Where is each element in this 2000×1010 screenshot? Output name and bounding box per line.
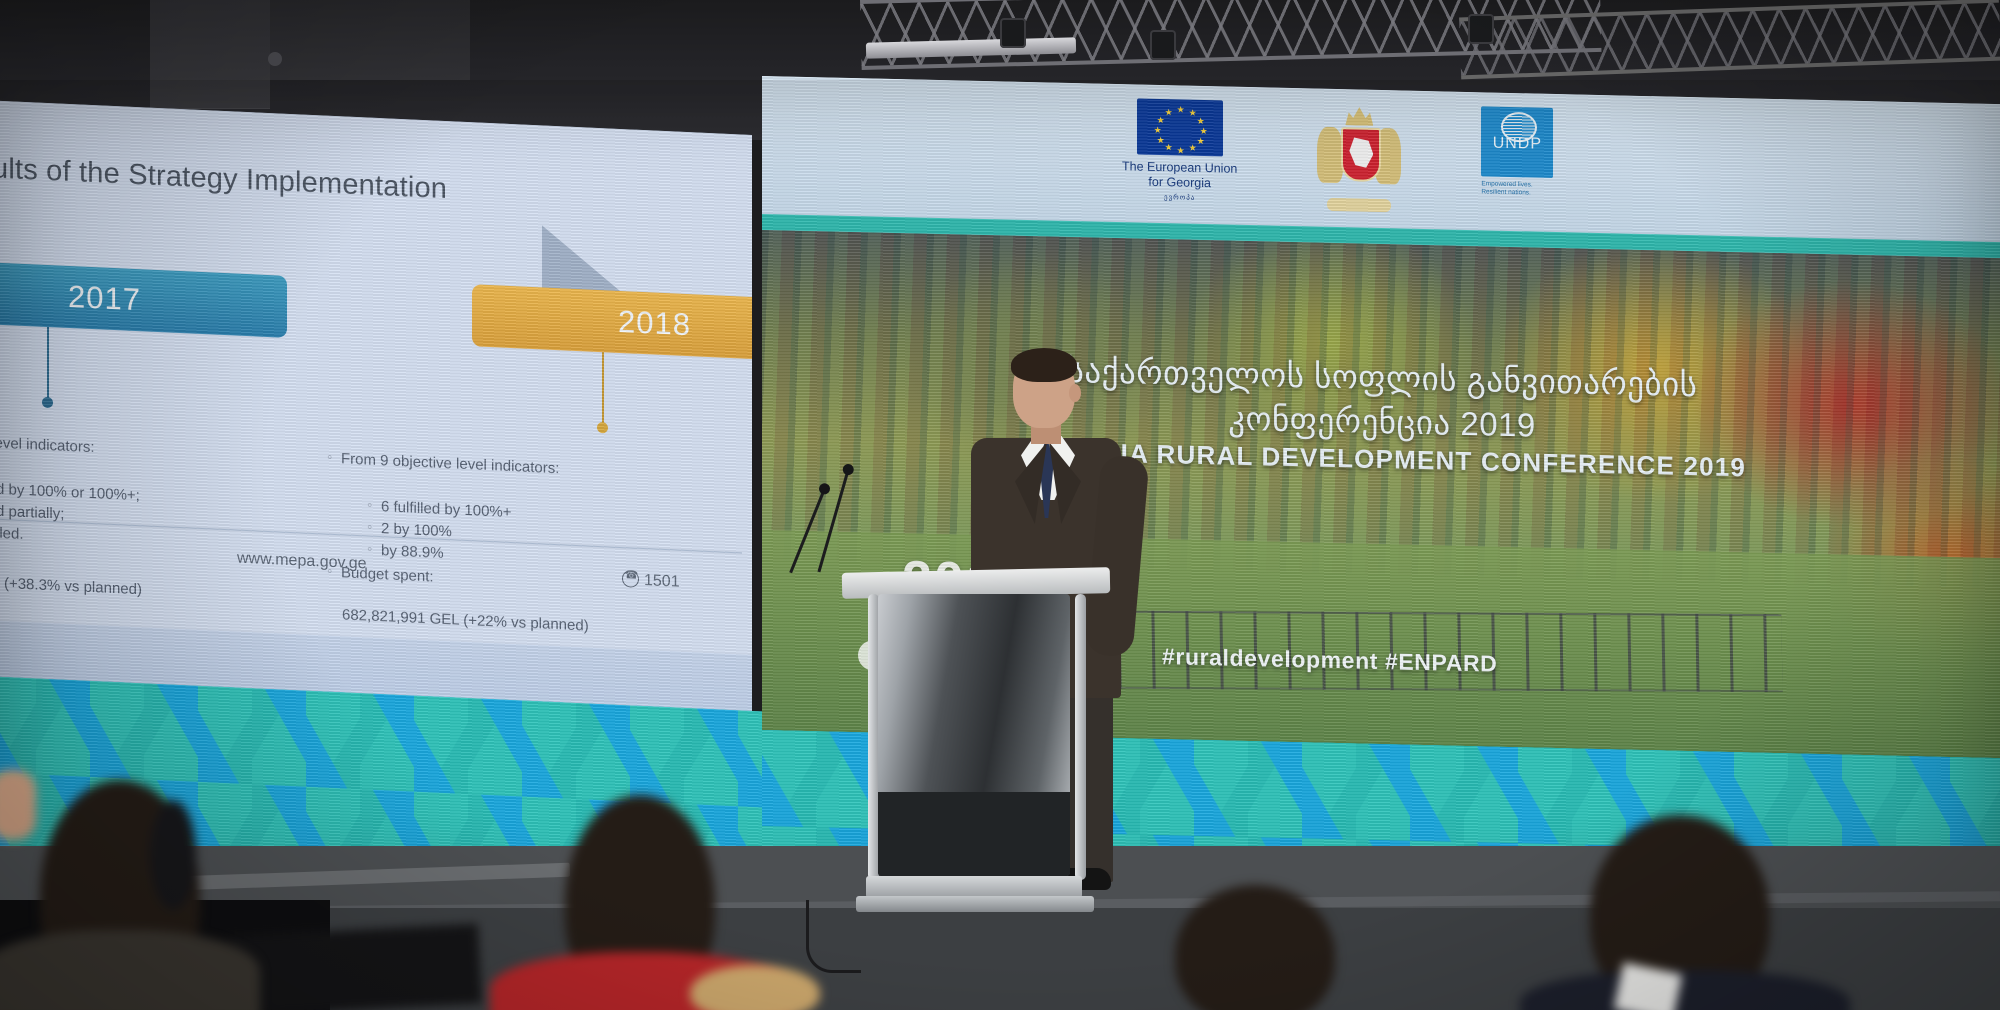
undp-letters: UNDP [1481, 136, 1553, 151]
logo-bar: ★ ★ ★ ★ ★ ★ ★ ★ ★ ★ ★ ★ [762, 76, 2000, 242]
podium-cable [806, 900, 861, 973]
phone-icon [622, 570, 639, 588]
timeline-stem-right [602, 352, 604, 426]
eu-logo: ★ ★ ★ ★ ★ ★ ★ ★ ★ ★ ★ ★ [1122, 98, 1237, 207]
timeline-dot-left [42, 397, 53, 408]
georgia-coat-of-arms-icon [1315, 103, 1403, 217]
year-pill-2017: 2017 [0, 259, 287, 338]
left-budget-value: EL (+38.3% vs planned) [0, 572, 142, 601]
timeline-dot-right [597, 422, 608, 433]
left-col-bullets: d by 100% or 100%+; d partially; lled. [0, 478, 140, 551]
podium [852, 570, 1102, 930]
slide-website: www.mepa.gov.ge [237, 550, 367, 574]
undp-logo: UNDP Empowered lives. Resilient nations. [1481, 106, 1559, 198]
right-budget-value: 682,821,991 GEL (+22% vs planned) [342, 604, 589, 637]
left-col-intro: r level indicators: [0, 432, 95, 459]
undp-mark-icon: UNDP [1481, 106, 1553, 178]
conference-photo: ults of the Strategy Implementation 2017… [0, 0, 2000, 1010]
audience-chair [228, 924, 482, 1010]
eu-caption-line1: The European Union [1122, 159, 1237, 177]
right-col-bullets: 6 fulfilled by 100%+ 2 by 100% by 88.9% [367, 495, 512, 568]
presentation-slide: ults of the Strategy Implementation 2017… [0, 100, 752, 655]
slide-hotline: 1501 [622, 567, 680, 592]
year-pill-2018: 2018 [472, 284, 752, 363]
timeline-stem-left [47, 327, 49, 401]
list-item: From 9 objective level indicators: [327, 448, 559, 481]
left-led-panel: ults of the Strategy Implementation 2017… [0, 100, 752, 770]
right-col-intro: From 9 objective level indicators: [327, 448, 559, 481]
undp-caption-line2: Resilient nations. [1481, 188, 1559, 198]
eu-caption-line3: ევროპა [1122, 189, 1237, 207]
slide-heading: ults of the Strategy Implementation [0, 152, 447, 206]
eu-flag-icon: ★ ★ ★ ★ ★ ★ ★ ★ ★ ★ ★ ★ [1137, 99, 1223, 157]
